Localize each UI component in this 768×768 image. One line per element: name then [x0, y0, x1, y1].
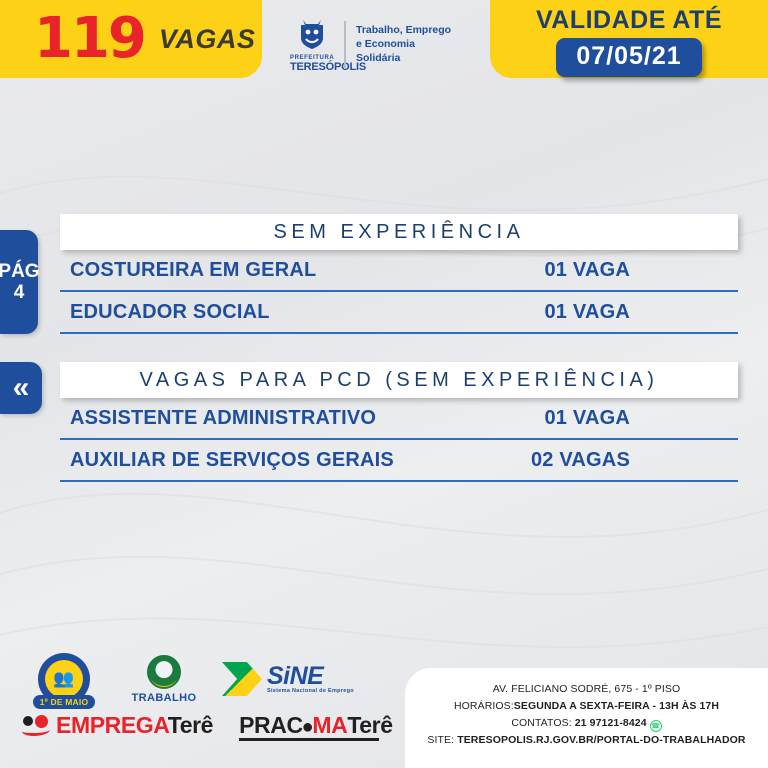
- secretariat-name: Trabalho, Emprego e Economia Solidária: [356, 24, 451, 66]
- job-vacancy-count: 01 VAGA: [544, 407, 730, 430]
- sine-subtitle: Sistema Nacional de Emprego: [267, 689, 354, 695]
- coat-of-arms-city: TERESÓPOLIS: [290, 61, 334, 73]
- primeiro-de-maio-label: 1º DE MAIO: [33, 695, 96, 709]
- sine-arrow-icon: [222, 662, 262, 696]
- trabalho-logo: TRABALHO: [128, 655, 200, 704]
- job-title: ASSISTENTE ADMINISTRATIVO: [70, 407, 376, 430]
- job-list: COSTUREIRA EM GERAL 01 VAGA EDUCADOR SOC…: [60, 250, 738, 334]
- city-branding: PREFEITURA TERESÓPOLIS Trabalho, Emprego…: [290, 12, 480, 78]
- table-row: ASSISTENTE ADMINISTRATIVO 01 VAGA: [60, 398, 738, 440]
- section-title: SEM EXPERIÊNCIA: [274, 221, 525, 244]
- contact-phone-label: CONTATOS:: [511, 717, 574, 729]
- contact-site: SITE: TERESOPOLIS.RJ.GOV.BR/PORTAL-DO-TR…: [427, 732, 745, 749]
- pracomatere-logo: PRAC ● MA Terê: [239, 712, 393, 739]
- contact-hours: HORÁRIOS:SEGUNDA A SEXTA-FEIRA - 13H ÀS …: [454, 698, 719, 715]
- page-indicator-tab: PÁG 4: [0, 230, 38, 334]
- whatsapp-icon: ☎: [650, 720, 662, 732]
- job-list: ASSISTENTE ADMINISTRATIVO 01 VAGA AUXILI…: [60, 398, 738, 482]
- header: 119 VAGAS PREFEITURA TERESÓPOLIS Trabalh…: [0, 0, 768, 100]
- people-icon: 👥: [53, 669, 74, 689]
- people-swoosh-icon: [22, 715, 50, 737]
- footer: 👥 1º DE MAIO TRABALHO SiNE Sistema Nacio…: [0, 640, 768, 768]
- table-row: COSTUREIRA EM GERAL 01 VAGA: [60, 250, 738, 292]
- empregatere-logo: EMPREGATerê: [22, 712, 213, 739]
- vacancy-count-label: VAGAS: [159, 24, 256, 55]
- ma-text: MA: [312, 712, 347, 739]
- section-title-banner: SEM EXPERIÊNCIA: [60, 214, 738, 250]
- coat-of-arms-icon: [297, 18, 327, 50]
- vacancy-count: 119: [34, 11, 145, 67]
- empregatere-wordmark: EMPREGATerê: [56, 712, 213, 739]
- brazil-crest-icon: [147, 655, 181, 689]
- vacancy-count-banner: 119 VAGAS: [0, 0, 262, 78]
- coat-of-arms-top-label: PREFEITURA: [290, 55, 334, 61]
- contact-site-label: SITE:: [427, 734, 457, 746]
- underline: [239, 738, 379, 741]
- sine-wordmark: SiNE Sistema Nacional de Emprego: [267, 664, 354, 695]
- validity-label: VALIDADE ATÉ: [536, 6, 722, 35]
- validity-banner: VALIDADE ATÉ 07/05/21: [490, 0, 768, 78]
- contact-site-value: TERESOPOLIS.RJ.GOV.BR/PORTAL-DO-TRABALHA…: [457, 734, 745, 746]
- job-vacancy-count: 01 VAGA: [544, 301, 730, 324]
- tere-text: Terê: [347, 712, 392, 739]
- page-indicator-label: PÁG 4: [0, 261, 40, 304]
- chevron-left-double-icon: «: [13, 373, 30, 403]
- job-title: AUXILIAR DE SERVIÇOS GERAIS: [70, 449, 394, 472]
- coat-of-arms: PREFEITURA TERESÓPOLIS: [290, 18, 334, 73]
- sine-title: SiNE: [267, 664, 354, 689]
- partner-logos-row-2: EMPREGATerê PRAC ● MA Terê: [22, 712, 393, 739]
- tere-text: Terê: [168, 712, 213, 738]
- job-title: EDUCADOR SOCIAL: [70, 301, 270, 324]
- contact-address: AV. FELICIANO SODRÉ, 675 - 1º PISO: [493, 681, 681, 698]
- primeiro-de-maio-logo: 👥 1º DE MAIO: [22, 648, 106, 710]
- validity-date-badge: 07/05/21: [556, 38, 701, 77]
- divider: [344, 21, 346, 69]
- job-vacancy-count: 01 VAGA: [544, 259, 730, 282]
- contact-card: AV. FELICIANO SODRÉ, 675 - 1º PISO HORÁR…: [405, 668, 768, 768]
- table-row: EDUCADOR SOCIAL 01 VAGA: [60, 292, 738, 334]
- trabalho-label: TRABALHO: [128, 692, 200, 704]
- section-title-banner: VAGAS PARA PCD (SEM EXPERIÊNCIA): [60, 362, 738, 398]
- previous-page-tab[interactable]: «: [0, 362, 42, 414]
- contact-phone: CONTATOS: 21 97121-8424☎: [511, 715, 661, 733]
- section-title: VAGAS PARA PCD (SEM EXPERIÊNCIA): [140, 369, 659, 392]
- emprega-text: EMPREGA: [56, 712, 168, 738]
- contact-hours-label: HORÁRIOS:: [454, 700, 514, 712]
- table-row: AUXILIAR DE SERVIÇOS GERAIS 02 VAGAS: [60, 440, 738, 482]
- job-vacancy-count: 02 VAGAS: [531, 449, 730, 472]
- partner-logos-row-1: 👥 1º DE MAIO TRABALHO SiNE Sistema Nacio…: [22, 648, 354, 710]
- contact-phone-value: 21 97121-8424: [575, 717, 647, 729]
- prac-text: PRAC: [239, 712, 303, 739]
- job-title: COSTUREIRA EM GERAL: [70, 259, 316, 282]
- sine-logo: SiNE Sistema Nacional de Emprego: [222, 662, 354, 696]
- contact-hours-value: SEGUNDA A SEXTA-FEIRA - 13H ÀS 17H: [514, 700, 719, 712]
